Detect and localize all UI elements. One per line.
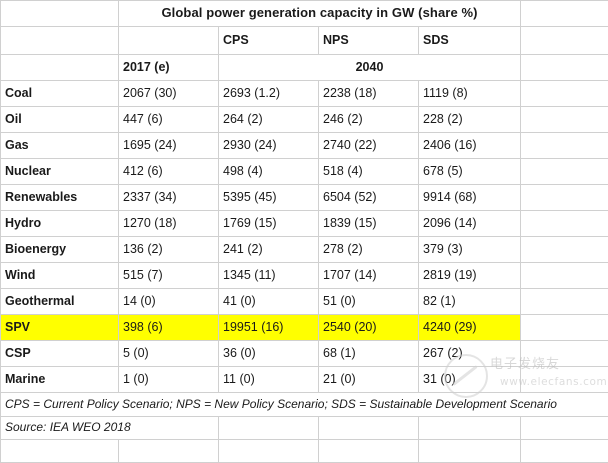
cell-empty-wind-right	[521, 263, 608, 289]
table-row: Hydro 1270 (18) 1769 (15) 1839 (15) 2096…	[1, 211, 608, 237]
cell-spv-nps: 2540 (20)	[319, 315, 419, 341]
row-label-hydro: Hydro	[1, 211, 119, 237]
cell-empty-scenario-right	[521, 27, 608, 55]
cell-gas-2017: 1695 (24)	[119, 133, 219, 159]
cell-empty-coal-right	[521, 81, 608, 107]
table-row-highlighted: SPV 398 (6) 19951 (16) 2540 (20) 4240 (2…	[1, 315, 608, 341]
cell-empty-tail-c4	[419, 440, 521, 463]
cell-wind-sds: 2819 (19)	[419, 263, 521, 289]
column-header-sds: SDS	[419, 27, 521, 55]
cell-nuclear-cps: 498 (4)	[219, 159, 319, 185]
table-row: Marine 1 (0) 11 (0) 21 (0) 31 (0)	[1, 367, 608, 393]
cell-empty-marine-right	[521, 367, 608, 393]
cell-empty-source-c3	[319, 417, 419, 440]
cell-oil-2017: 447 (6)	[119, 107, 219, 133]
cell-empty-corner	[1, 1, 119, 27]
cell-marine-sds: 31 (0)	[419, 367, 521, 393]
cell-wind-cps: 1345 (11)	[219, 263, 319, 289]
cell-empty-source-c4	[419, 417, 521, 440]
table-row: Nuclear 412 (6) 498 (4) 518 (4) 678 (5)	[1, 159, 608, 185]
cell-coal-cps: 2693 (1.2)	[219, 81, 319, 107]
table-row: Renewables 2337 (34) 5395 (45) 6504 (52)…	[1, 185, 608, 211]
row-label-coal: Coal	[1, 81, 119, 107]
cell-bioenergy-nps: 278 (2)	[319, 237, 419, 263]
cell-csp-sds: 267 (2)	[419, 341, 521, 367]
footnote-text: CPS = Current Policy Scenario; NPS = New…	[1, 393, 608, 417]
spreadsheet-sheet: Global power generation capacity in GW (…	[0, 0, 608, 404]
row-label-spv: SPV	[1, 315, 119, 341]
cell-oil-cps: 264 (2)	[219, 107, 319, 133]
cell-coal-nps: 2238 (18)	[319, 81, 419, 107]
table-row: Bioenergy 136 (2) 241 (2) 278 (2) 379 (3…	[1, 237, 608, 263]
table-row-source: Source: IEA WEO 2018	[1, 417, 608, 440]
table-row: CSP 5 (0) 36 (0) 68 (1) 267 (2)	[1, 341, 608, 367]
cell-geothermal-sds: 82 (1)	[419, 289, 521, 315]
cell-empty-oil-right	[521, 107, 608, 133]
cell-wind-nps: 1707 (14)	[319, 263, 419, 289]
cell-renewables-cps: 5395 (45)	[219, 185, 319, 211]
row-label-geothermal: Geothermal	[1, 289, 119, 315]
cell-geothermal-nps: 51 (0)	[319, 289, 419, 315]
row-label-nuclear: Nuclear	[1, 159, 119, 185]
cell-empty-tail-c3	[319, 440, 419, 463]
source-text: Source: IEA WEO 2018	[1, 417, 219, 440]
table-row: Gas 1695 (24) 2930 (24) 2740 (22) 2406 (…	[1, 133, 608, 159]
cell-nuclear-2017: 412 (6)	[119, 159, 219, 185]
cell-nuclear-sds: 678 (5)	[419, 159, 521, 185]
cell-nuclear-nps: 518 (4)	[319, 159, 419, 185]
table-body: Global power generation capacity in GW (…	[1, 1, 608, 463]
cell-marine-2017: 1 (0)	[119, 367, 219, 393]
column-header-nps: NPS	[319, 27, 419, 55]
cell-geothermal-cps: 41 (0)	[219, 289, 319, 315]
cell-empty-tail-c5	[521, 440, 608, 463]
cell-empty-tail-c0	[1, 440, 119, 463]
table-row: Wind 515 (7) 1345 (11) 1707 (14) 2819 (1…	[1, 263, 608, 289]
cell-bioenergy-cps: 241 (2)	[219, 237, 319, 263]
cell-spv-2017: 398 (6)	[119, 315, 219, 341]
cell-coal-2017: 2067 (30)	[119, 81, 219, 107]
row-label-oil: Oil	[1, 107, 119, 133]
cell-empty-hydro-right	[521, 211, 608, 237]
table-row-scenario-headers: CPS NPS SDS	[1, 27, 608, 55]
cell-csp-2017: 5 (0)	[119, 341, 219, 367]
column-header-cps: CPS	[219, 27, 319, 55]
cell-csp-cps: 36 (0)	[219, 341, 319, 367]
cell-renewables-nps: 6504 (52)	[319, 185, 419, 211]
row-label-marine: Marine	[1, 367, 119, 393]
cell-empty-title-right	[521, 1, 608, 27]
cell-oil-nps: 246 (2)	[319, 107, 419, 133]
cell-spv-sds: 4240 (29)	[419, 315, 521, 341]
cell-empty-tail-c1	[119, 440, 219, 463]
cell-empty-year-right	[521, 55, 608, 81]
cell-marine-nps: 21 (0)	[319, 367, 419, 393]
cell-gas-cps: 2930 (24)	[219, 133, 319, 159]
cell-empty-renewables-right	[521, 185, 608, 211]
cell-geothermal-2017: 14 (0)	[119, 289, 219, 315]
cell-empty-source-c5	[521, 417, 608, 440]
cell-wind-2017: 515 (7)	[119, 263, 219, 289]
cell-gas-nps: 2740 (22)	[319, 133, 419, 159]
cell-hydro-nps: 1839 (15)	[319, 211, 419, 237]
cell-empty-scenario-label	[1, 27, 119, 55]
cell-hydro-2017: 1270 (18)	[119, 211, 219, 237]
column-header-blank	[119, 27, 219, 55]
row-label-renewables: Renewables	[1, 185, 119, 211]
column-header-base-year: 2017 (e)	[119, 55, 219, 81]
table-row-trailing-empty	[1, 440, 608, 463]
cell-empty-source-c2	[219, 417, 319, 440]
table-row-title: Global power generation capacity in GW (…	[1, 1, 608, 27]
table-row: Coal 2067 (30) 2693 (1.2) 2238 (18) 1119…	[1, 81, 608, 107]
cell-hydro-sds: 2096 (14)	[419, 211, 521, 237]
cell-bioenergy-sds: 379 (3)	[419, 237, 521, 263]
row-label-bioenergy: Bioenergy	[1, 237, 119, 263]
cell-bioenergy-2017: 136 (2)	[119, 237, 219, 263]
cell-empty-gas-right	[521, 133, 608, 159]
cell-marine-cps: 11 (0)	[219, 367, 319, 393]
row-label-csp: CSP	[1, 341, 119, 367]
row-label-wind: Wind	[1, 263, 119, 289]
cell-renewables-2017: 2337 (34)	[119, 185, 219, 211]
table-title: Global power generation capacity in GW (…	[119, 1, 521, 27]
cell-spv-cps: 19951 (16)	[219, 315, 319, 341]
cell-empty-spv-right	[521, 315, 608, 341]
row-label-gas: Gas	[1, 133, 119, 159]
column-header-projection-year: 2040	[219, 55, 521, 81]
cell-gas-sds: 2406 (16)	[419, 133, 521, 159]
cell-coal-sds: 1119 (8)	[419, 81, 521, 107]
cell-oil-sds: 228 (2)	[419, 107, 521, 133]
cell-empty-csp-right	[521, 341, 608, 367]
cell-empty-tail-c2	[219, 440, 319, 463]
table-row-year-headers: 2017 (e) 2040	[1, 55, 608, 81]
cell-hydro-cps: 1769 (15)	[219, 211, 319, 237]
cell-empty-year-label	[1, 55, 119, 81]
table-row: Oil 447 (6) 264 (2) 246 (2) 228 (2)	[1, 107, 608, 133]
table-row-footnote: CPS = Current Policy Scenario; NPS = New…	[1, 393, 608, 417]
cell-empty-geothermal-right	[521, 289, 608, 315]
cell-empty-nuclear-right	[521, 159, 608, 185]
cell-renewables-sds: 9914 (68)	[419, 185, 521, 211]
table-row: Geothermal 14 (0) 41 (0) 51 (0) 82 (1)	[1, 289, 608, 315]
cell-csp-nps: 68 (1)	[319, 341, 419, 367]
capacity-table: Global power generation capacity in GW (…	[0, 0, 608, 463]
cell-empty-bioenergy-right	[521, 237, 608, 263]
